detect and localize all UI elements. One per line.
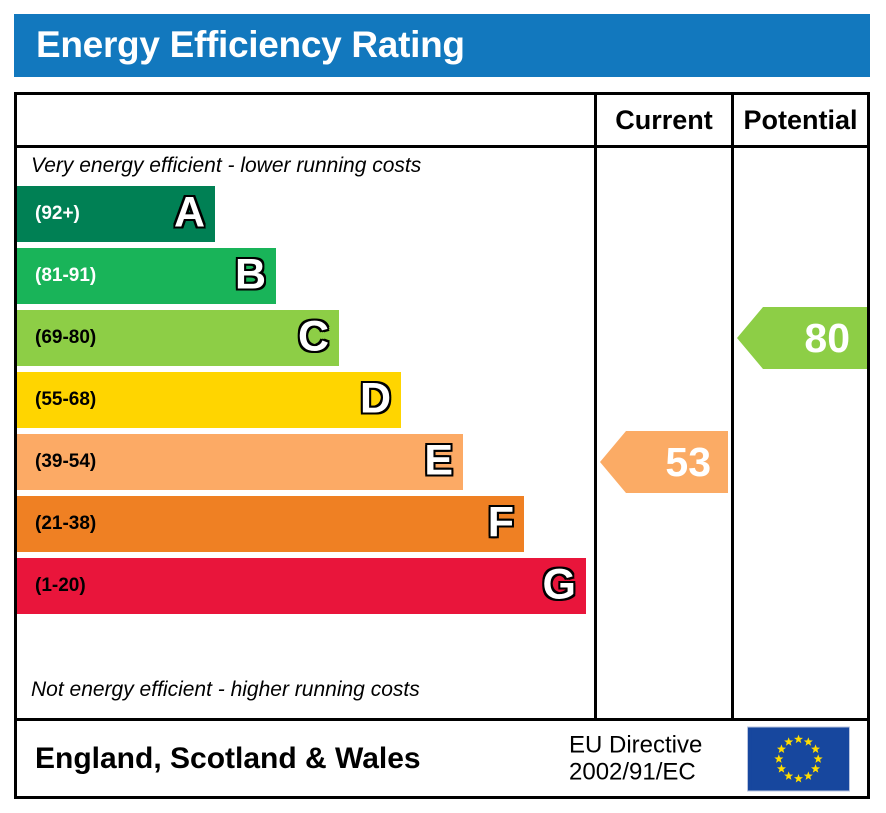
current-rating-value: 53 xyxy=(665,442,728,483)
band-letter-a: A xyxy=(174,189,205,238)
energy-efficiency-rating-chart: Energy Efficiency Rating Current Potenti… xyxy=(0,0,886,813)
band-range-a: (92+) xyxy=(35,203,80,225)
column-divider-potential xyxy=(731,148,734,718)
footer-region-label: England, Scotland & Wales xyxy=(35,742,421,776)
table-header-row: Current Potential xyxy=(17,95,867,148)
eu-flag-icon xyxy=(747,726,850,791)
band-range-e: (39-54) xyxy=(35,451,96,473)
band-letter-e: E xyxy=(424,437,453,486)
band-bar-c: (69-80) C xyxy=(17,310,339,366)
band-letter-c: C xyxy=(298,313,329,362)
column-header-potential: Potential xyxy=(731,95,867,145)
column-header-current: Current xyxy=(594,95,731,145)
chart-title-bar: Energy Efficiency Rating xyxy=(14,14,870,77)
table-body: Very energy efficient - lower running co… xyxy=(17,148,867,721)
band-bars: (92+) A (81-91) B (69-80) C (55-68) D xyxy=(17,186,594,676)
footer-directive-line1: EU Directive xyxy=(569,731,702,758)
band-letter-g: G xyxy=(543,561,576,610)
band-range-c: (69-80) xyxy=(35,327,96,349)
band-letter-b: B xyxy=(235,251,266,300)
column-divider-current xyxy=(594,148,597,718)
band-bar-d: (55-68) D xyxy=(17,372,401,428)
footer-directive: EU Directive 2002/91/EC xyxy=(569,731,702,786)
band-bar-b: (81-91) B xyxy=(17,248,276,304)
potential-rating-arrow: 80 xyxy=(737,307,867,369)
note-very-efficient: Very energy efficient - lower running co… xyxy=(31,154,421,178)
band-letter-f: F xyxy=(488,499,514,548)
band-bar-f: (21-38) F xyxy=(17,496,524,552)
page-title: Energy Efficiency Rating xyxy=(36,24,465,66)
table-footer-row: England, Scotland & Wales EU Directive 2… xyxy=(17,721,867,796)
rating-table: Current Potential Very energy efficient … xyxy=(14,92,870,799)
band-range-d: (55-68) xyxy=(35,389,96,411)
current-rating-arrow: 53 xyxy=(600,431,728,493)
band-range-f: (21-38) xyxy=(35,513,96,535)
band-letter-d: D xyxy=(360,375,391,424)
footer-directive-line2: 2002/91/EC xyxy=(569,759,702,786)
note-not-efficient: Not energy efficient - higher running co… xyxy=(31,678,420,702)
band-range-b: (81-91) xyxy=(35,265,96,287)
column-header-blank xyxy=(17,95,594,145)
band-bar-e: (39-54) E xyxy=(17,434,463,490)
potential-rating-value: 80 xyxy=(804,318,867,359)
band-bar-g: (1-20) G xyxy=(17,558,586,614)
band-range-g: (1-20) xyxy=(35,575,86,597)
band-bar-a: (92+) A xyxy=(17,186,215,242)
